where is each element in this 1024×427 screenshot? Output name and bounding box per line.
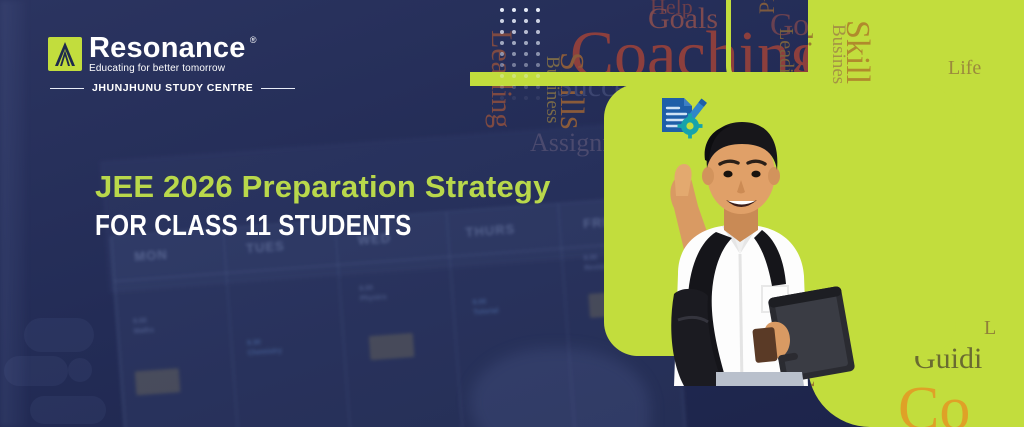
dot-grid-dot	[500, 41, 504, 45]
centre-rule-left	[50, 88, 84, 89]
watermark-glyph	[4, 312, 112, 420]
dot-grid-dot	[536, 8, 540, 12]
dot-grid-dot	[524, 30, 528, 34]
headline-line-2: FOR CLASS 11 STUDENTS	[95, 211, 478, 243]
dot-grid-dot	[536, 30, 540, 34]
dot-grid-icon	[500, 8, 548, 100]
dot-grid-dot	[512, 96, 516, 100]
logo-registered-mark: ®	[250, 35, 257, 45]
dot-grid-dot	[500, 52, 504, 56]
dot-grid-dot	[524, 19, 528, 23]
dot-grid-dot	[536, 96, 540, 100]
dot-grid-dot	[512, 63, 516, 67]
document-pencil-gear-icon	[652, 92, 710, 150]
logo-tagline: Educating for better tomorrow	[89, 64, 246, 74]
dot-grid-dot	[512, 85, 516, 89]
dot-grid-dot	[500, 30, 504, 34]
resonance-peak-icon	[48, 37, 82, 71]
dot-grid-dot	[524, 96, 528, 100]
dot-grid-dot	[512, 30, 516, 34]
planner-day-mon: MON	[134, 247, 168, 264]
study-centre-line: JHUNJHUNU STUDY CENTRE	[50, 82, 295, 94]
lime-bracket-frame	[726, 0, 1024, 92]
dot-grid-dot	[512, 52, 516, 56]
dot-grid-dot	[524, 52, 528, 56]
dot-grid-dot	[524, 85, 528, 89]
dot-grid-dot	[536, 74, 540, 78]
resonance-logo[interactable]: Resonance ® Educating for better tomorro…	[48, 34, 295, 94]
dot-grid-dot	[500, 85, 504, 89]
dot-grid-dot	[512, 8, 516, 12]
dot-grid-dot	[536, 63, 540, 67]
dot-grid-dot	[500, 74, 504, 78]
headline-block: JEE 2026 Preparation Strategy FOR CLASS …	[95, 170, 551, 243]
headline-line-1: JEE 2026 Preparation Strategy	[95, 170, 551, 203]
dot-grid-dot	[536, 85, 540, 89]
dot-grid-dot	[524, 74, 528, 78]
dot-grid-dot	[512, 19, 516, 23]
dot-grid-dot	[500, 63, 504, 67]
dot-grid-dot	[524, 41, 528, 45]
dot-grid-dot	[536, 19, 540, 23]
dot-grid-dot	[500, 19, 504, 23]
dot-grid-dot	[500, 96, 504, 100]
centre-rule-right	[261, 88, 295, 89]
logo-name: Resonance	[89, 34, 246, 63]
centre-name: JHUNJHUNU STUDY CENTRE	[92, 82, 253, 94]
dot-grid-dot	[536, 52, 540, 56]
dot-grid-dot	[536, 41, 540, 45]
dot-grid-dot	[512, 41, 516, 45]
student-photo	[612, 96, 852, 386]
promo-banner: MON TUES WED THURS FRI 9.00Maths 9.30Che…	[0, 0, 1024, 427]
dot-grid-dot	[524, 63, 528, 67]
dot-grid-dot	[524, 8, 528, 12]
dot-grid-dot	[512, 74, 516, 78]
dot-grid-dot	[500, 8, 504, 12]
